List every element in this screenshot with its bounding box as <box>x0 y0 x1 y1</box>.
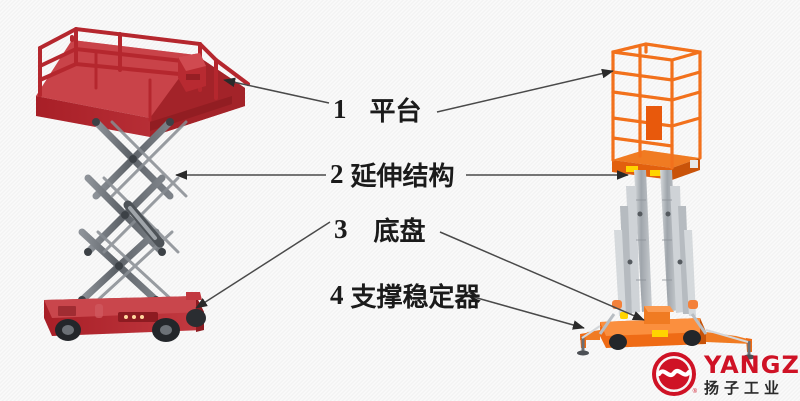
callout-label: 延伸结构 <box>351 156 455 193</box>
callout-chassis: 3 底盘 <box>334 211 426 248</box>
callout-number: 4 <box>330 280 344 311</box>
callout-number: 1 <box>333 94 347 125</box>
logo-chinese-text: 扬子工业 <box>704 381 800 396</box>
yangzi-emblem-icon: ® <box>652 352 696 396</box>
callout-label: 支撑稳定器 <box>351 277 481 314</box>
logo-wordmark: YANGZI 扬子工业 <box>704 353 800 396</box>
registered-mark: ® <box>693 389 697 395</box>
logo-english-text: YANGZI <box>704 353 800 377</box>
brand-logo: ® YANGZI 扬子工业 <box>652 352 800 396</box>
callout-outrigger-stabilizer: 4 支撑稳定器 <box>330 277 481 314</box>
callout-number: 2 <box>330 159 344 190</box>
leader-3-left <box>196 222 330 308</box>
leader-4-right <box>470 296 584 328</box>
leader-1-left <box>224 80 329 103</box>
diagram-canvas: 1 平台 2 延伸结构 3 底盘 4 支撑稳定器 ® YANGZI 扬子工业 <box>0 0 800 401</box>
callout-platform: 1 平台 <box>333 91 422 128</box>
callout-label: 平台 <box>370 91 422 128</box>
leader-1-right <box>437 71 613 112</box>
callout-number: 3 <box>334 214 348 245</box>
callout-label: 底盘 <box>374 211 426 248</box>
callout-leader-lines <box>0 0 800 401</box>
callout-extension-structure: 2 延伸结构 <box>330 156 455 193</box>
